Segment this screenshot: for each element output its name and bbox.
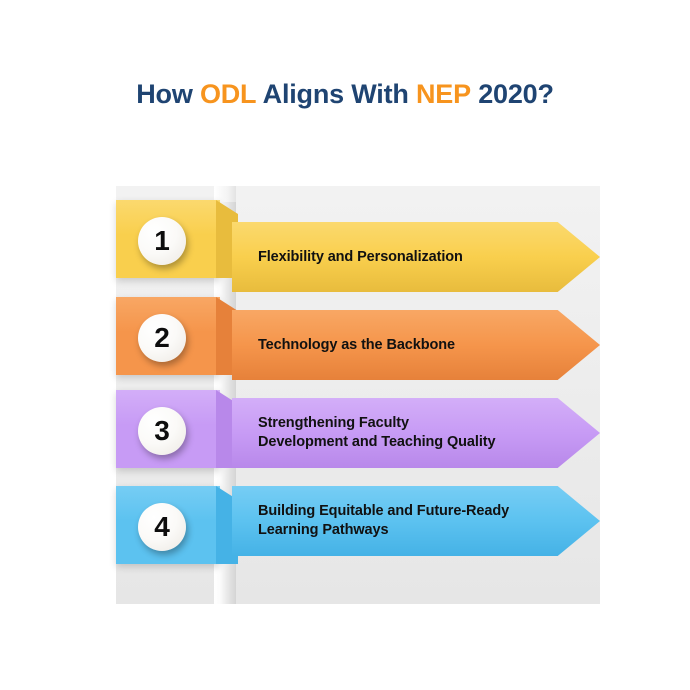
step-label-line-2: Development and Teaching Quality [258, 433, 558, 452]
step-label: Technology as the Backbone [258, 310, 558, 380]
step-label: Flexibility and Personalization [258, 222, 558, 292]
step-label-line-2: Learning Pathways [258, 521, 558, 540]
step-label-line-1: Building Equitable and Future-Ready [258, 502, 558, 521]
step-number: 4 [154, 513, 170, 541]
step-label-line-1: Flexibility and Personalization [258, 248, 558, 267]
step-arrow-band[interactable]: Building Equitable and Future-ReadyLearn… [232, 486, 600, 556]
step-arrow-band[interactable]: Strengthening FacultyDevelopment and Tea… [232, 398, 600, 468]
step-label-line-1: Strengthening Faculty [258, 414, 558, 433]
step-number: 3 [154, 417, 170, 445]
step-label-line-1: Technology as the Backbone [258, 336, 558, 355]
step-label: Strengthening FacultyDevelopment and Tea… [258, 398, 558, 468]
step-number-circle: 2 [138, 314, 186, 362]
step-number: 1 [154, 227, 170, 255]
step-number-circle: 1 [138, 217, 186, 265]
step-arrow-band[interactable]: Technology as the Backbone [232, 310, 600, 380]
step-arrow-band[interactable]: Flexibility and Personalization [232, 222, 600, 292]
step-label: Building Equitable and Future-ReadyLearn… [258, 486, 558, 556]
step-number: 2 [154, 324, 170, 352]
infographic-canvas: How ODL Aligns With NEP 2020? 1Flexibili… [0, 0, 690, 690]
steps-diagram: 1Flexibility and Personalization2Technol… [0, 0, 690, 690]
step-number-circle: 3 [138, 407, 186, 455]
step-number-circle: 4 [138, 503, 186, 551]
